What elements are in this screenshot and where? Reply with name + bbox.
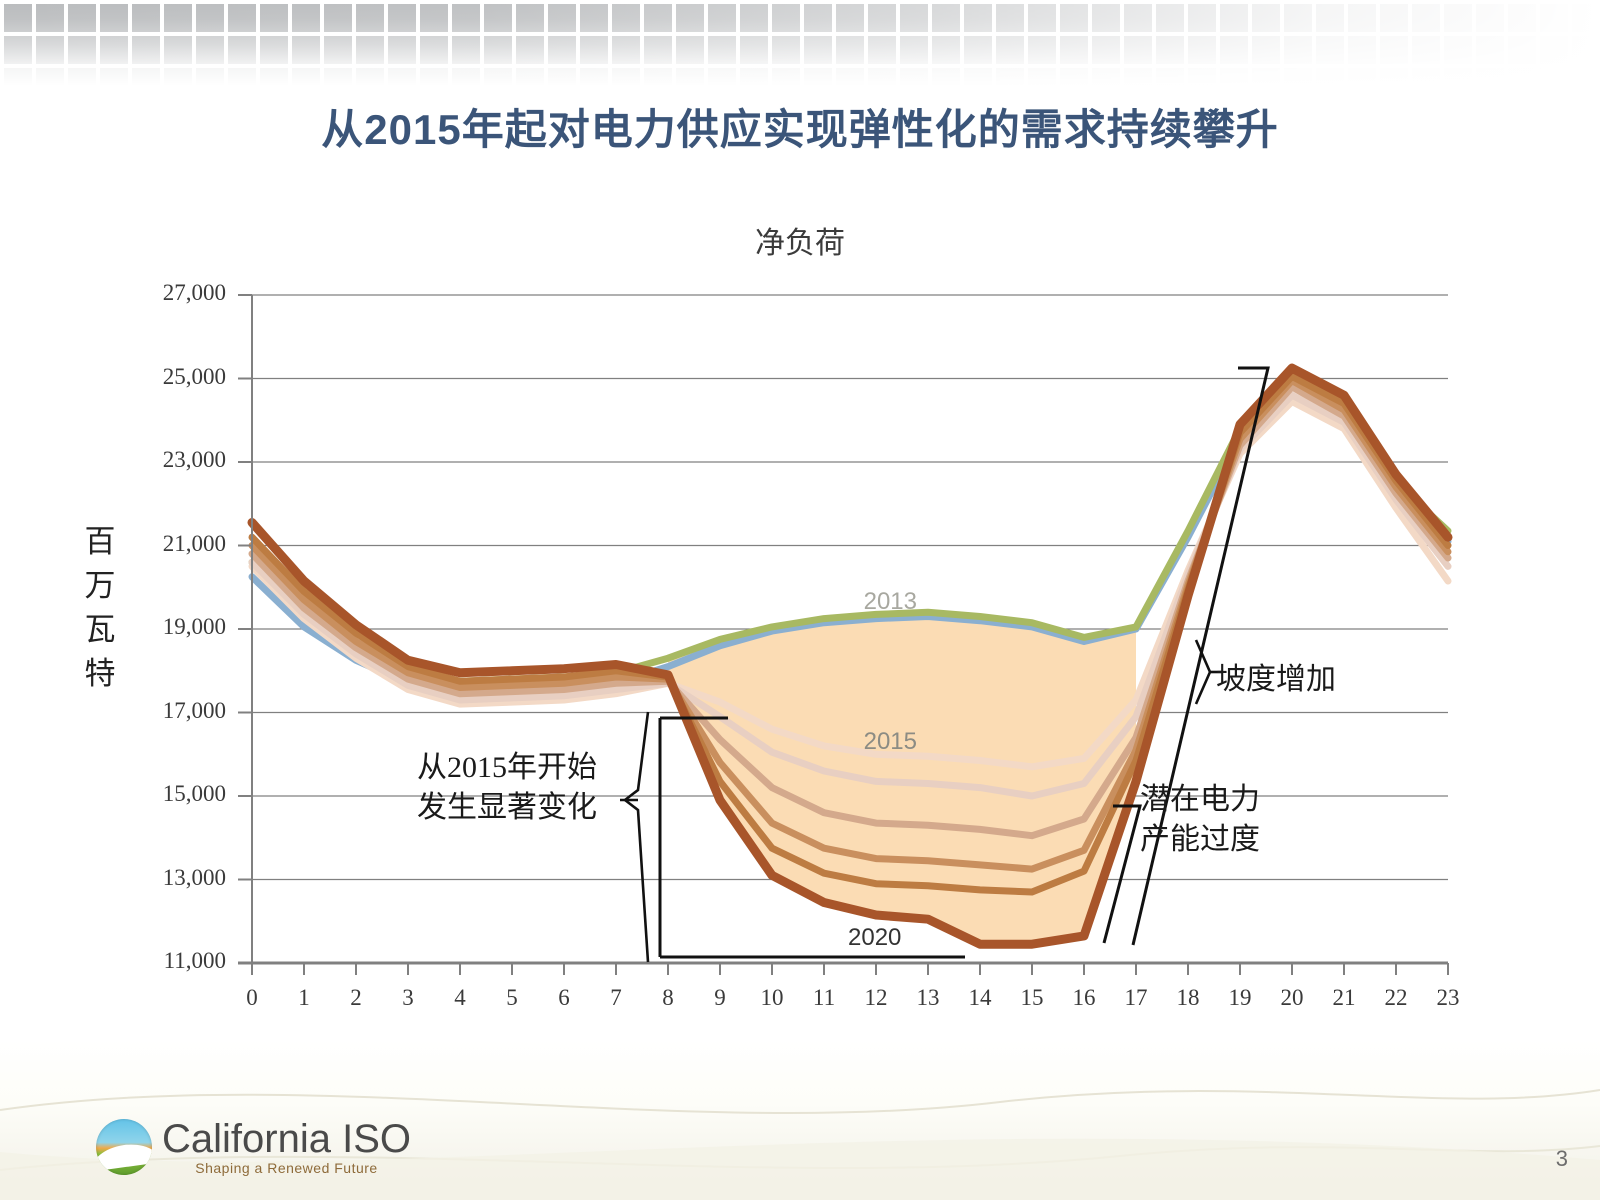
x-tick-label-1: 1 xyxy=(284,985,324,1011)
chart-plot-area xyxy=(0,0,1600,1200)
x-tick-label-4: 4 xyxy=(440,985,480,1011)
y-tick-label-15000: 15,000 xyxy=(116,781,226,807)
annotation-significant-change: 从2015年开始 发生显著变化 xyxy=(392,748,622,828)
series-label-2013: 2013 xyxy=(864,588,917,616)
logo-text-block: California ISO Shaping a Renewed Future xyxy=(162,1118,411,1176)
x-tick-label-10: 10 xyxy=(752,985,792,1011)
x-tick-label-19: 19 xyxy=(1220,985,1260,1011)
left-brace xyxy=(625,712,648,962)
y-tick-label-21000: 21,000 xyxy=(116,531,226,557)
x-tick-label-22: 22 xyxy=(1376,985,1416,1011)
footer-decoration: California ISO Shaping a Renewed Future … xyxy=(0,1040,1600,1200)
x-tick-label-17: 17 xyxy=(1116,985,1156,1011)
x-tick-label-2: 2 xyxy=(336,985,376,1011)
x-tick-label-6: 6 xyxy=(544,985,584,1011)
x-tick-label-3: 3 xyxy=(388,985,428,1011)
y-tick-label-27000: 27,000 xyxy=(116,280,226,306)
page-number: 3 xyxy=(1556,1146,1568,1172)
y-tick-label-23000: 23,000 xyxy=(116,447,226,473)
annotation-overgeneration-line2: 产能过度 xyxy=(1140,820,1370,860)
shaded-band-2013-to-2020 xyxy=(668,612,1136,944)
x-tick-label-0: 0 xyxy=(232,985,272,1011)
x-tick-label-9: 9 xyxy=(700,985,740,1011)
annotation-overgeneration-line1: 潜在电力 xyxy=(1140,780,1370,820)
x-tick-label-20: 20 xyxy=(1272,985,1312,1011)
annotation-increasing-ramp: 坡度增加 xyxy=(1216,660,1436,700)
california-iso-logo: California ISO Shaping a Renewed Future xyxy=(96,1118,411,1176)
x-tick-label-23: 23 xyxy=(1428,985,1468,1011)
x-tick-label-14: 14 xyxy=(960,985,1000,1011)
x-tick-label-18: 18 xyxy=(1168,985,1208,1011)
annotation-significant-change-line2: 发生显著变化 xyxy=(392,788,622,828)
logo-tagline: Shaping a Renewed Future xyxy=(162,1160,411,1176)
logo-name: California ISO xyxy=(162,1118,411,1160)
x-tick-label-11: 11 xyxy=(804,985,844,1011)
x-tick-label-8: 8 xyxy=(648,985,688,1011)
x-tick-label-7: 7 xyxy=(596,985,636,1011)
net-load-duck-curve-chart xyxy=(0,0,1600,1200)
y-tick-label-11000: 11,000 xyxy=(116,948,226,974)
x-tick-label-21: 21 xyxy=(1324,985,1364,1011)
y-tick-label-13000: 13,000 xyxy=(116,865,226,891)
x-tick-label-15: 15 xyxy=(1012,985,1052,1011)
annotation-overgeneration: 潜在电力 产能过度 xyxy=(1140,780,1370,860)
series-label-2020: 2020 xyxy=(848,924,901,952)
y-tick-label-19000: 19,000 xyxy=(116,614,226,640)
annotation-significant-change-line1: 从2015年开始 xyxy=(392,748,622,788)
y-tick-label-17000: 17,000 xyxy=(116,698,226,724)
x-tick-label-13: 13 xyxy=(908,985,948,1011)
x-tick-label-12: 12 xyxy=(856,985,896,1011)
logo-mark-icon xyxy=(96,1119,152,1175)
y-tick-label-25000: 25,000 xyxy=(116,364,226,390)
logo-wave-shape xyxy=(96,1140,152,1172)
x-tick-label-5: 5 xyxy=(492,985,532,1011)
series-label-2015: 2015 xyxy=(864,728,917,756)
x-tick-label-16: 16 xyxy=(1064,985,1104,1011)
